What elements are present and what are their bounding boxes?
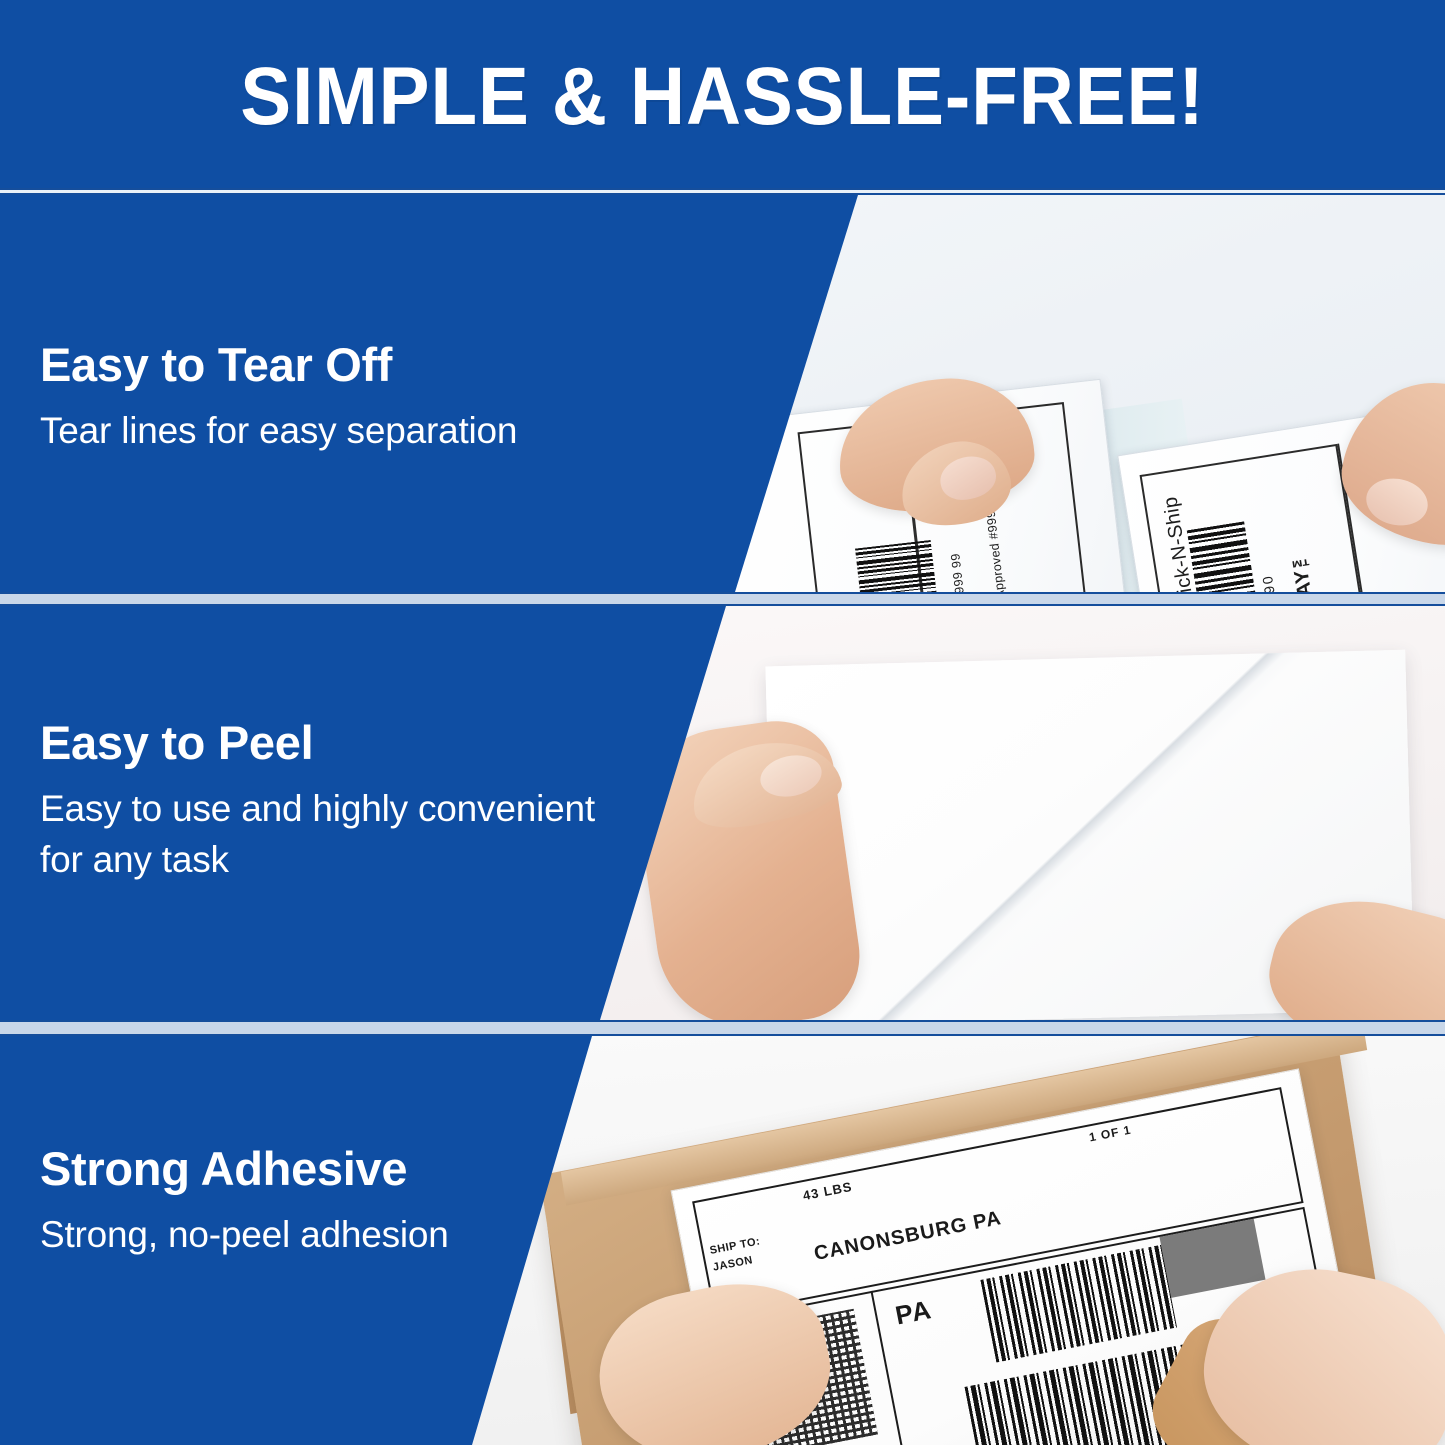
infographic-root: SIMPLE & HASSLE-FREE! CUSTOMER STREET CI…	[0, 0, 1445, 1445]
feature-title: Easy to Peel	[40, 718, 600, 769]
feature-panel-peel: Easy to Peel Easy to use and highly conv…	[0, 606, 1445, 1020]
feature-panel-tear-off: CUSTOMER STREET CITY STATE ZIP CODE CCCC…	[0, 195, 1445, 592]
feature-text-adhesive: Strong Adhesive Strong, no-peel adhesion	[40, 1144, 449, 1260]
feature-subtitle: Easy to use and highly convenient for an…	[40, 783, 600, 885]
feature-text-peel: Easy to Peel Easy to use and highly conv…	[40, 718, 600, 885]
header-divider	[0, 188, 1445, 195]
panel-divider-1	[0, 592, 1445, 606]
feature-subtitle: Tear lines for easy separation	[40, 405, 517, 456]
feature-panel-adhesive: 43 LBS 1 OF 1 SHIP TO: JASON CANONSBURG …	[0, 1036, 1445, 1445]
feature-subtitle: Strong, no-peel adhesion	[40, 1209, 449, 1260]
feature-text-tear-off: Easy to Tear Off Tear lines for easy sep…	[40, 340, 517, 456]
feature-title: Easy to Tear Off	[40, 340, 517, 391]
feature-title: Strong Adhesive	[40, 1144, 449, 1195]
panel-divider-2	[0, 1020, 1445, 1036]
page-title: SIMPLE & HASSLE-FREE!	[240, 56, 1204, 138]
header-banner: SIMPLE & HASSLE-FREE!	[0, 0, 1445, 193]
